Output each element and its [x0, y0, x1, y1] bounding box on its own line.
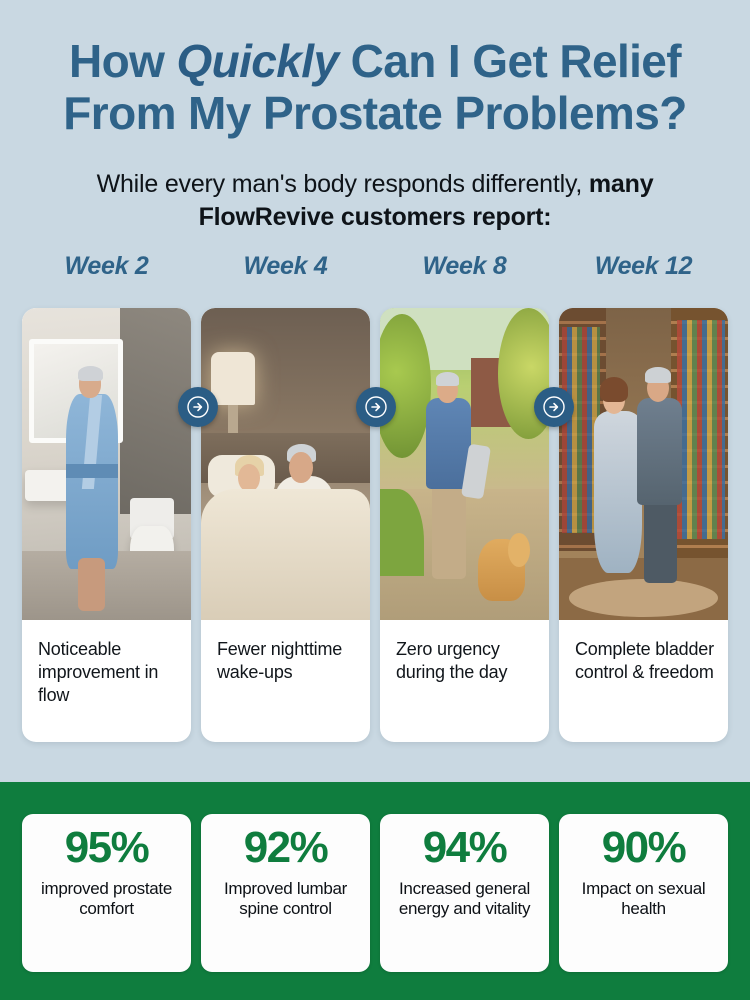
- week-label-3: Week 8: [380, 252, 549, 281]
- headline-post: Can I Get Relief: [338, 35, 681, 87]
- page-title: How Quickly Can I Get Relief From My Pro…: [0, 36, 750, 139]
- photo-couple-in-bed: [201, 308, 370, 620]
- subheading-bold-many: many: [589, 170, 654, 198]
- stat-label: Increased general energy and vitality: [386, 879, 543, 918]
- timeline-card-row: Noticeable improvement in flow Fewer nig…: [22, 308, 728, 742]
- week-label-row: Week 2 Week 4 Week 8 Week 12: [22, 252, 728, 281]
- stat-percent: 94%: [423, 826, 507, 871]
- week-label-2: Week 4: [201, 252, 370, 281]
- timeline-card-caption: Noticeable improvement in flow: [22, 620, 191, 742]
- headline-line-2: From My Prostate Problems?: [18, 88, 732, 140]
- stat-percent: 95%: [65, 826, 149, 871]
- stat-card-2: 92% Improved lumbar spine control: [201, 814, 370, 972]
- photo-man-in-bathroom: [22, 308, 191, 620]
- photo-man-walking-dog: [380, 308, 549, 620]
- headline-emphasis: Quickly: [176, 35, 338, 87]
- scene-outdoors: [380, 308, 549, 620]
- infographic-page: How Quickly Can I Get Relief From My Pro…: [0, 0, 750, 1000]
- subheading-normal: While every man's body responds differen…: [97, 170, 589, 198]
- week-label-1: Week 2: [22, 252, 191, 281]
- subheading-bold-brand: FlowRevive customers report:: [199, 203, 552, 231]
- week-label-4: Week 12: [559, 252, 728, 281]
- subheading-line-2: FlowRevive customers report:: [24, 201, 726, 234]
- stats-row: 95% improved prostate comfort 92% Improv…: [22, 814, 728, 972]
- scene-bedroom: [201, 308, 370, 620]
- scene-bathroom: [22, 308, 191, 620]
- stats-band: 95% improved prostate comfort 92% Improv…: [0, 782, 750, 1000]
- timeline-card-week-12[interactable]: Complete bladder control & freedom: [559, 308, 728, 742]
- headline-pre: How: [69, 35, 176, 87]
- photo-couple-dancing: [559, 308, 728, 620]
- timeline-card-week-4[interactable]: Fewer nighttime wake-ups: [201, 308, 370, 742]
- subheading-line-1: While every man's body responds differen…: [24, 168, 726, 201]
- timeline-card-week-2[interactable]: Noticeable improvement in flow: [22, 308, 191, 742]
- stat-card-3: 94% Increased general energy and vitalit…: [380, 814, 549, 972]
- timeline-card-caption: Complete bladder control & freedom: [559, 620, 728, 742]
- stat-card-4: 90% Impact on sexual health: [559, 814, 728, 972]
- scene-library: [559, 308, 728, 620]
- stat-percent: 92%: [244, 826, 328, 871]
- stat-label: improved prostate comfort: [28, 879, 185, 918]
- arrow-right-circle-icon: [356, 387, 396, 427]
- stat-percent: 90%: [602, 826, 686, 871]
- arrow-right-circle-icon: [178, 387, 218, 427]
- timeline-card-week-8[interactable]: Zero urgency during the day: [380, 308, 549, 742]
- timeline-card-caption: Zero urgency during the day: [380, 620, 549, 742]
- timeline-card-caption: Fewer nighttime wake-ups: [201, 620, 370, 742]
- stat-label: Impact on sexual health: [565, 879, 722, 918]
- stat-card-1: 95% improved prostate comfort: [22, 814, 191, 972]
- stat-label: Improved lumbar spine control: [207, 879, 364, 918]
- headline-line-1: How Quickly Can I Get Relief: [18, 36, 732, 88]
- arrow-right-circle-icon: [534, 387, 574, 427]
- subheading: While every man's body responds differen…: [0, 168, 750, 234]
